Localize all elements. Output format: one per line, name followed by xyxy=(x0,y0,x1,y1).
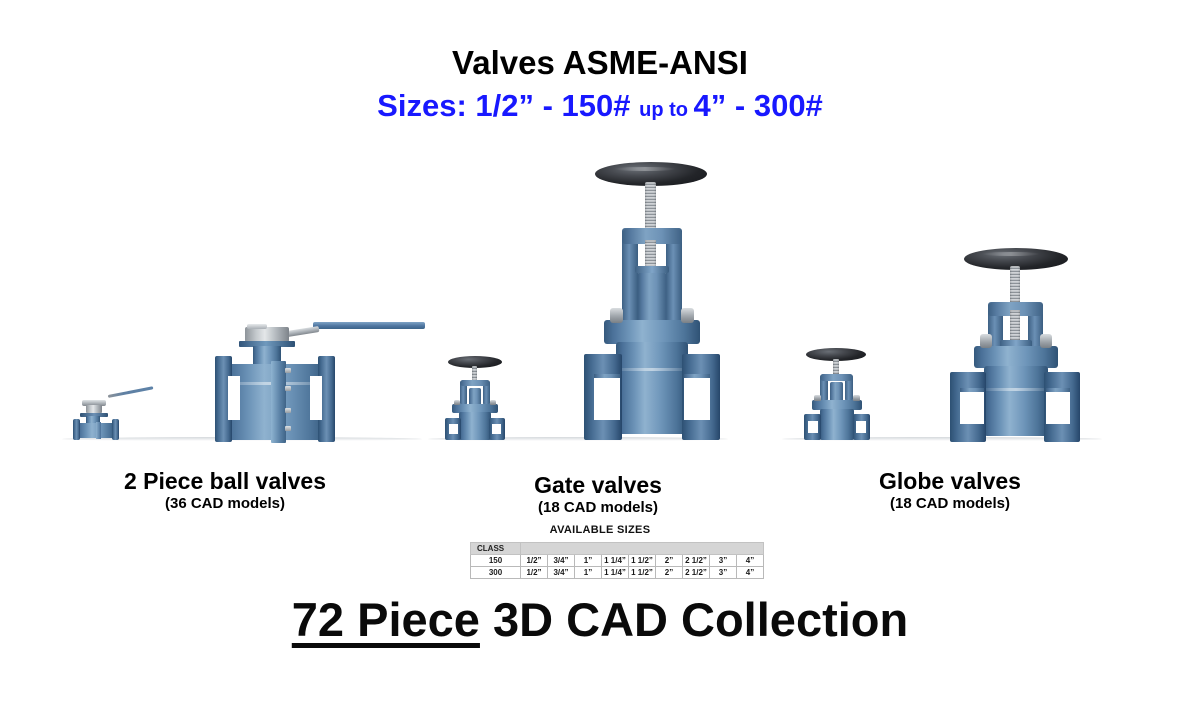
globe-valve-large-handwheel-sheen xyxy=(982,252,1040,256)
gate-valve-small-flange-notch-right xyxy=(492,424,501,434)
ball-valve-large-mid-joint xyxy=(271,361,286,443)
ball-valve-small-flange-left xyxy=(73,419,80,440)
cell-150-7: 2 1/2” xyxy=(683,555,710,567)
ball-valve-small-flange-right xyxy=(112,419,119,440)
row-class-150: 150 xyxy=(471,555,521,567)
cell-150-6: 2” xyxy=(656,555,683,567)
cell-300-8: 3” xyxy=(710,567,737,579)
group-label-gate: Gate valves (18 CAD models) xyxy=(493,472,703,518)
group-label-gate-name: Gate valves xyxy=(493,472,703,498)
cell-150-9: 4” xyxy=(737,555,764,567)
poster-canvas: Valves ASME-ANSI Sizes: 1/2” - 150# up t… xyxy=(0,0,1200,720)
globe-valve-large-body-highlight xyxy=(984,388,1048,391)
ball-valve-large-stem-cap xyxy=(247,324,267,329)
footer-headline: 72 Piece 3D CAD Collection xyxy=(0,592,1200,647)
available-sizes-caption: AVAILABLE SIZES xyxy=(0,524,1200,536)
globe-valve-small-flange-notch-right xyxy=(856,421,866,433)
ball-valve-large-joint-bolt-2 xyxy=(285,386,291,391)
cell-300-3: 1” xyxy=(575,567,602,579)
footer-rest-part: 3D CAD Collection xyxy=(480,593,908,646)
gate-valve-large-bonnet-nut-right xyxy=(681,308,694,323)
gate-valve-small-flange-notch-left xyxy=(449,424,458,434)
table-body: 150 1/2” 3/4” 1” 1 1/4” 1 1/2” 2” 2 1/2”… xyxy=(471,555,764,579)
table-header-spacer xyxy=(521,543,764,555)
ball-valve-large-flange-notch-left xyxy=(228,376,240,420)
ball-valve-small-stem-block xyxy=(86,405,102,413)
gate-valve-small xyxy=(438,356,512,440)
footer-underlined-part: 72 Piece xyxy=(292,593,480,646)
globe-valve-small xyxy=(798,348,878,440)
gate-valve-large-gland-ring xyxy=(635,266,669,273)
gate-valve-small-bonnet-nut-right xyxy=(490,400,496,405)
globe-valve-small-stuffing-box xyxy=(830,382,843,402)
gate-valve-large-pipe-left xyxy=(594,374,620,378)
gate-valve-large-pipe-right xyxy=(684,374,710,378)
globe-valve-small-flange-notch-left xyxy=(808,421,818,433)
cell-150-4: 1 1/4” xyxy=(602,555,629,567)
subtitle-part-1: Sizes: 1/2” - 150# xyxy=(377,88,639,123)
subtitle-part-2: up to xyxy=(639,99,693,121)
ball-valve-large-joint-bolt-1 xyxy=(285,368,291,373)
cell-300-6: 2” xyxy=(656,567,683,579)
table-header-row: CLASS xyxy=(471,543,764,555)
group-label-gate-count: (18 CAD models) xyxy=(493,498,703,518)
gate-valve-small-body xyxy=(459,412,491,440)
ball-valve-small-lever xyxy=(108,386,154,398)
cell-300-9: 4” xyxy=(737,567,764,579)
cell-300-1: 1/2” xyxy=(521,567,548,579)
table-header-class: CLASS xyxy=(471,543,521,555)
gate-valve-large-body-highlight xyxy=(616,368,688,371)
globe-valve-large-pipe-right xyxy=(1046,388,1070,392)
globe-valve-large-pipe-left xyxy=(960,388,984,392)
cell-150-2: 3/4” xyxy=(548,555,575,567)
page-title: Valves ASME-ANSI xyxy=(0,44,1200,82)
subtitle-part-3: 4” - 300# xyxy=(694,88,823,123)
ball-valve-large xyxy=(215,320,425,442)
cell-300-5: 1 1/2” xyxy=(629,567,656,579)
gate-valve-small-yoke-top xyxy=(460,380,490,386)
ball-valve-large-joint-bolt-3 xyxy=(285,408,291,413)
ball-valve-large-lever-bar xyxy=(313,322,425,329)
globe-valve-large-bonnet-nut-left xyxy=(980,334,992,348)
cell-150-5: 1 1/2” xyxy=(629,555,656,567)
gate-valve-large-body xyxy=(616,342,688,434)
globe-valve-large-body xyxy=(984,366,1048,436)
gate-valve-large xyxy=(578,162,728,442)
gate-valve-large-bonnet-nut-left xyxy=(610,308,623,323)
cell-150-1: 1/2” xyxy=(521,555,548,567)
group-label-ball-name: 2 Piece ball valves xyxy=(65,468,385,494)
globe-valve-large-flange-notch-right xyxy=(1046,390,1070,424)
cell-150-8: 3” xyxy=(710,555,737,567)
ball-valve-large-stem-block xyxy=(245,327,289,342)
gate-valve-large-flange-notch-right xyxy=(684,376,710,420)
globe-valve-large xyxy=(942,248,1086,442)
globe-valve-large-bonnet-nut-right xyxy=(1040,334,1052,348)
globe-valve-small-body xyxy=(820,409,854,440)
globe-valve-large-bonnet xyxy=(974,346,1058,368)
group-label-globe-count: (18 CAD models) xyxy=(845,494,1055,514)
page-subtitle: Sizes: 1/2” - 150# up to 4” - 300# xyxy=(0,88,1200,124)
row-class-300: 300 xyxy=(471,567,521,579)
available-sizes-table: CLASS 150 1/2” 3/4” 1” 1 1/4” 1 1/2” 2” … xyxy=(470,542,764,579)
gate-valve-small-bonnet-nut-left xyxy=(454,400,460,405)
gate-valve-large-flange-notch-left xyxy=(594,376,620,420)
group-label-globe-name: Globe valves xyxy=(845,468,1055,494)
globe-valve-small-stem xyxy=(833,359,839,375)
cell-300-2: 3/4” xyxy=(548,567,575,579)
group-label-ball: 2 Piece ball valves (36 CAD models) xyxy=(65,468,385,514)
ball-valve-small xyxy=(72,392,172,440)
ball-valve-large-flange-notch-right xyxy=(310,376,322,420)
ball-valve-large-joint-bolt-4 xyxy=(285,426,291,431)
cell-300-7: 2 1/2” xyxy=(683,567,710,579)
ball-valve-small-joint xyxy=(96,422,101,439)
gate-valve-large-bonnet xyxy=(604,320,700,344)
group-label-globe: Globe valves (18 CAD models) xyxy=(845,468,1055,514)
group-label-ball-count: (36 CAD models) xyxy=(65,494,385,514)
table-row: 300 1/2” 3/4” 1” 1 1/4” 1 1/2” 2” 2 1/2”… xyxy=(471,567,764,579)
globe-valve-small-yoke-top xyxy=(820,374,853,381)
cell-150-3: 1” xyxy=(575,555,602,567)
globe-valve-small-bonnet-nut-right xyxy=(853,395,860,401)
cell-300-4: 1 1/4” xyxy=(602,567,629,579)
globe-valve-large-flange-notch-left xyxy=(960,390,984,424)
globe-valve-small-bonnet-nut-left xyxy=(814,395,821,401)
table-row: 150 1/2” 3/4” 1” 1 1/4” 1 1/2” 2” 2 1/2”… xyxy=(471,555,764,567)
gate-valve-large-handwheel-sheen xyxy=(614,167,676,171)
